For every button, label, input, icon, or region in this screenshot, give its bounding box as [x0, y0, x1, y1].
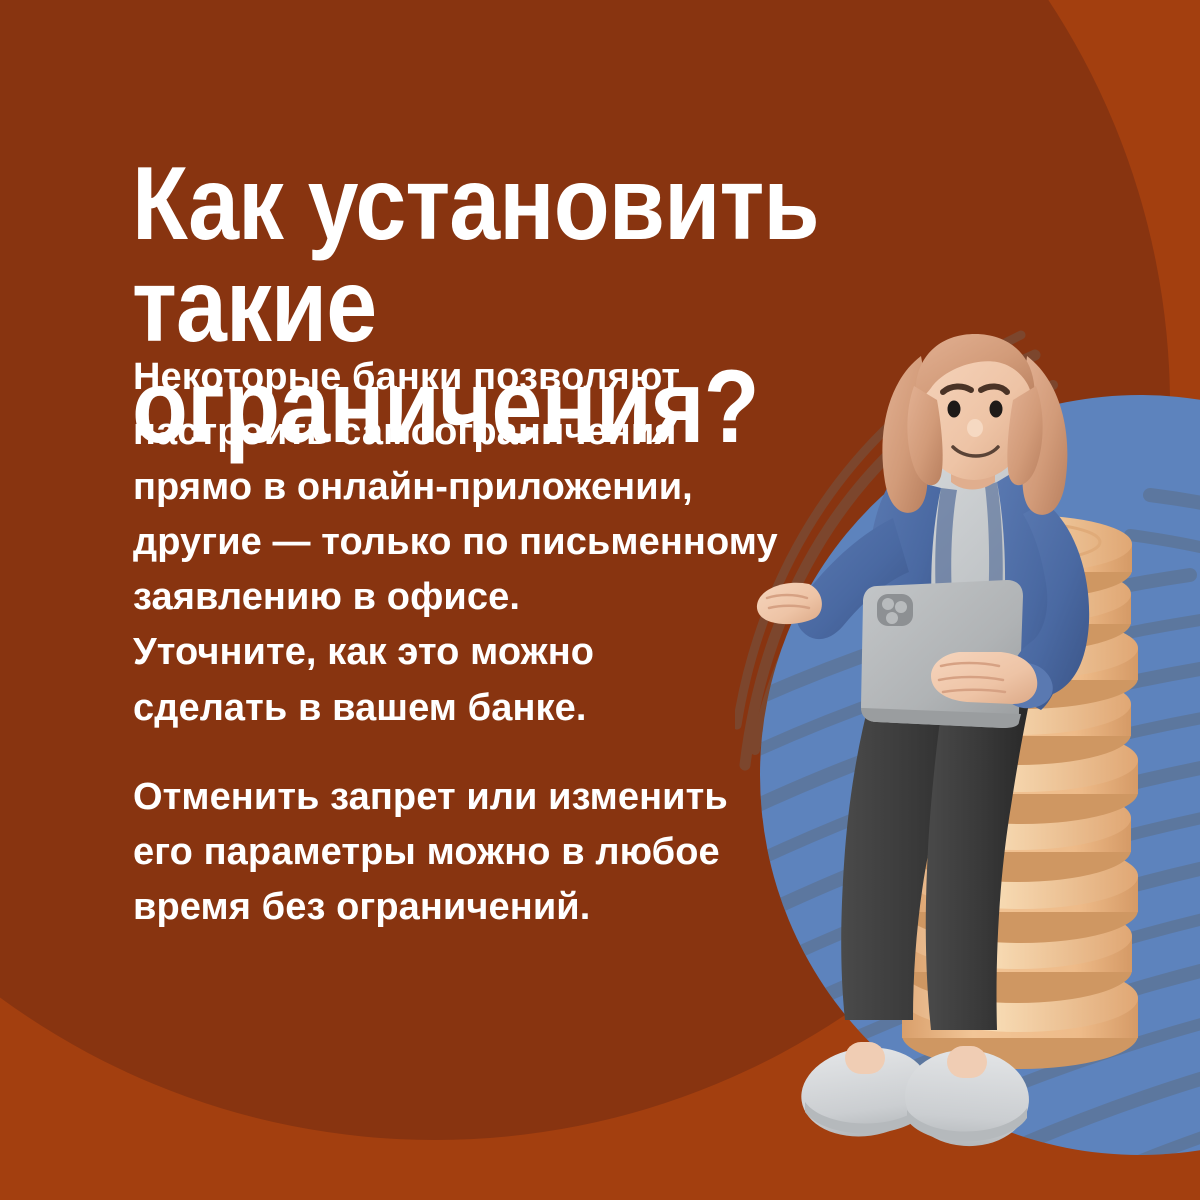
poster-canvas: Как установить такие ограничения? Некото… — [0, 0, 1200, 1200]
eye-right — [990, 401, 1003, 418]
body-text-block: Некоторые банки позволяют настроить само… — [133, 350, 813, 935]
eye-left — [948, 401, 961, 418]
paragraph-primary: Некоторые банки позволяют настроить само… — [133, 350, 813, 736]
paragraph-secondary: Отменить запрет или изменить его парамет… — [133, 770, 813, 935]
character-head — [907, 334, 1042, 485]
illustration-woman-with-tablet — [745, 330, 1200, 1160]
nose — [967, 419, 983, 437]
